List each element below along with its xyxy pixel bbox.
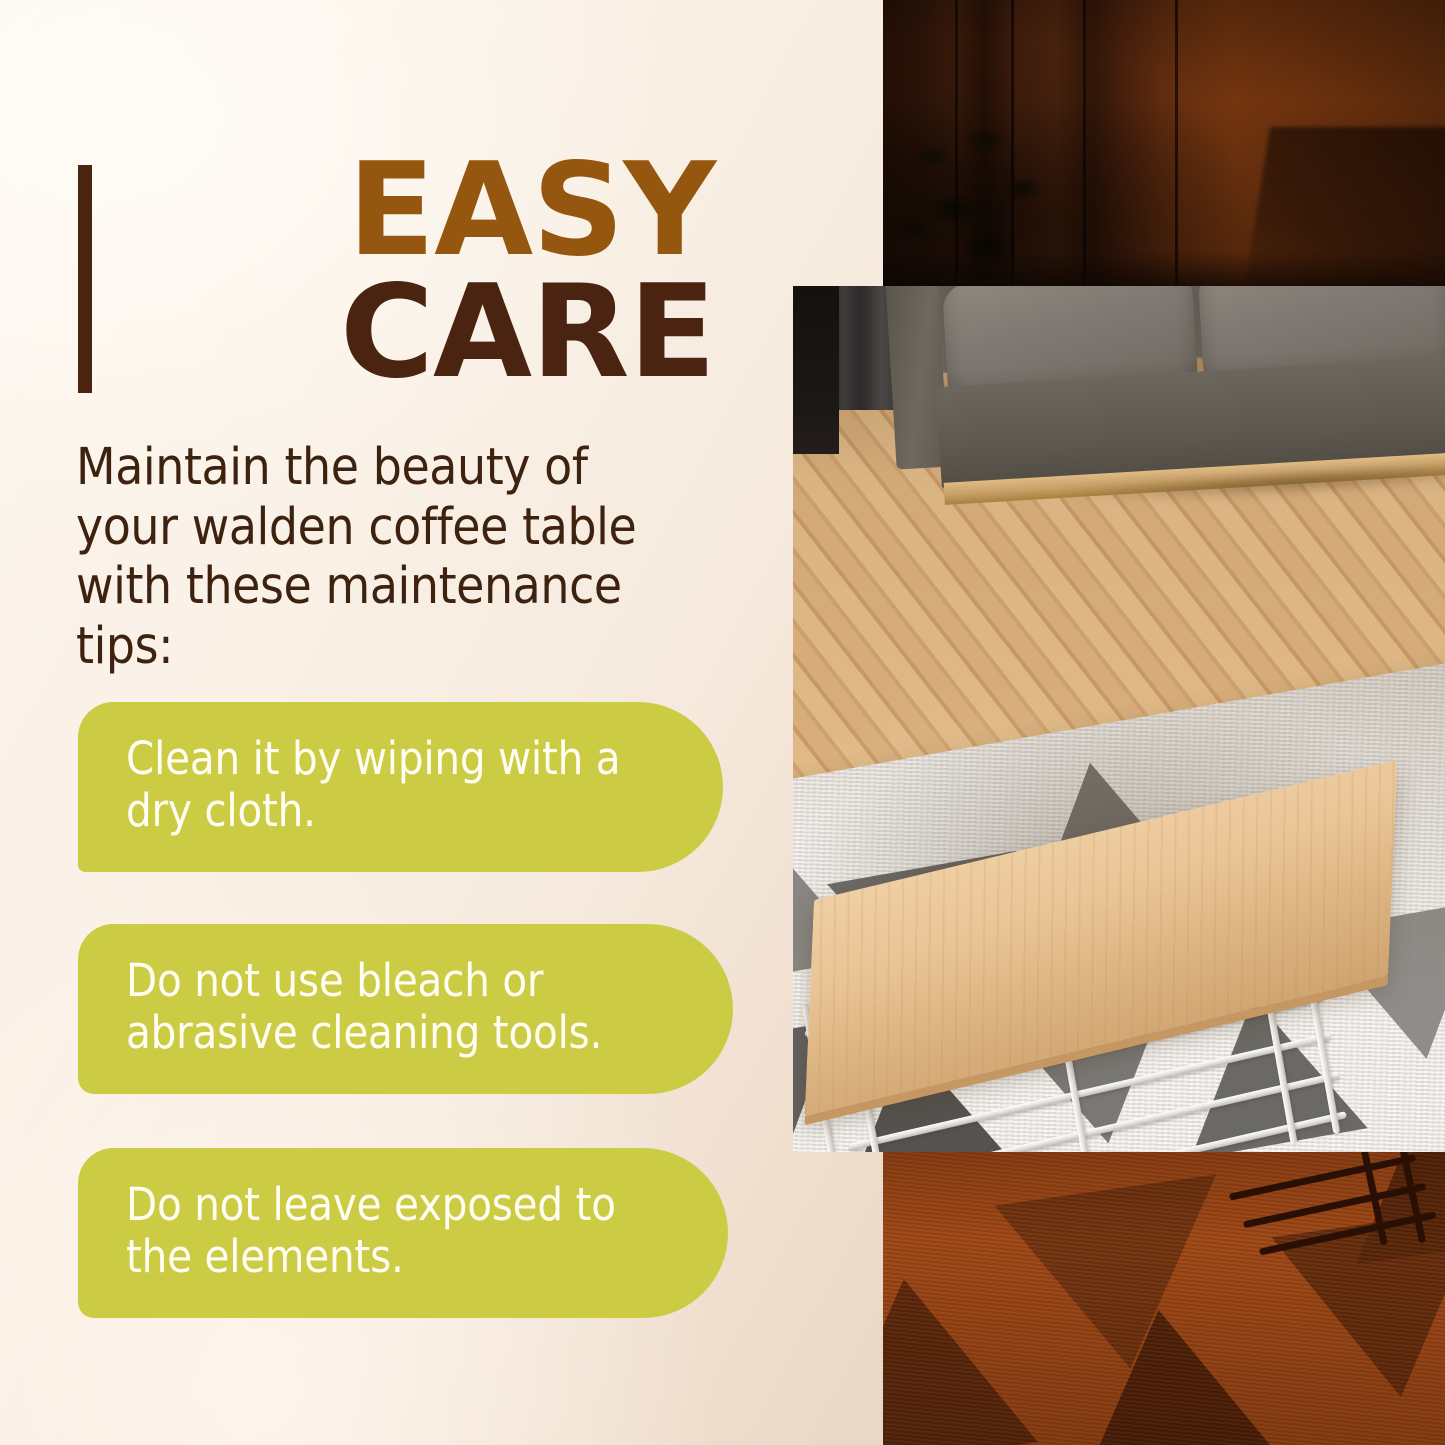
page-title-line-1: Easy	[155, 150, 715, 272]
poster-canvas: Easy Care Maintain the beauty of your wa…	[0, 0, 1445, 1445]
tips-list: Clean it by wiping with a dry cloth. Do …	[0, 702, 760, 1318]
tip-item-3: Do not leave exposed to the elements.	[78, 1148, 728, 1318]
tip-item-2-label: Do not use bleach or abrasive cleaning t…	[126, 955, 655, 1059]
tip-item-2: Do not use bleach or abrasive cleaning t…	[78, 924, 733, 1094]
photo-sofa	[885, 286, 1445, 544]
tip-item-3-label: Do not leave exposed to the elements.	[126, 1179, 650, 1283]
tip-item-1: Clean it by wiping with a dry cloth.	[78, 702, 723, 872]
photo-bottom-strip	[883, 1152, 1445, 1445]
photo-top-strip	[883, 0, 1445, 287]
photo-top-vignette	[883, 0, 1445, 287]
headline-accent-bar	[78, 165, 92, 393]
tip-item-1-label: Clean it by wiping with a dry cloth.	[126, 733, 645, 837]
page-title-line-2: Care	[155, 272, 715, 394]
intro-paragraph: Maintain the beauty of your walden coffe…	[76, 438, 686, 677]
photo-wall-dark	[793, 286, 839, 454]
photo-coffee-table: JOHN SILVER The System	[801, 834, 1441, 1152]
page-title: Easy Care	[155, 150, 715, 393]
photo-main-product: JOHN SILVER The System	[793, 286, 1445, 1152]
photo-bottom-tone-overlay	[883, 1152, 1445, 1445]
wire-rail	[884, 1111, 1347, 1152]
